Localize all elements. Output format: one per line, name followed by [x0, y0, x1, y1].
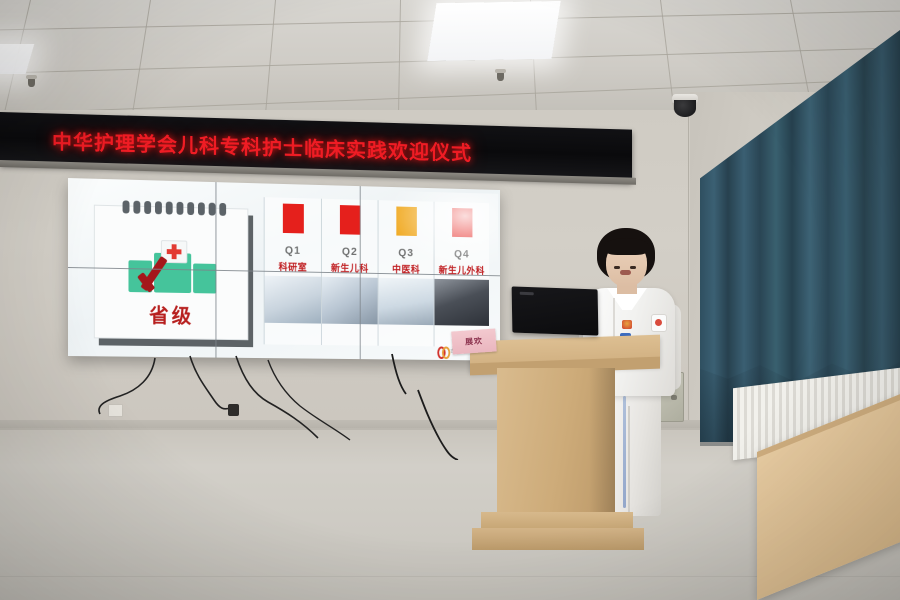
slide-notepad-title: 省级: [95, 298, 247, 329]
wall-outlet[interactable]: [108, 404, 123, 417]
conference-room-photo: 中华护理学会儿科专科护士临床实践欢迎仪式 省级: [0, 0, 900, 600]
notepad-illustration: 省级: [94, 205, 248, 341]
shoulder-patch-icon: [651, 314, 667, 332]
speaker-fringe: [604, 238, 649, 255]
check-mark-icon: [140, 253, 185, 295]
column-photo-q1: [265, 276, 321, 324]
trouser-stripe: [623, 396, 626, 508]
cable-plug: [228, 404, 239, 416]
sprinkler-head-left: [28, 78, 35, 87]
column-number-q1: Q1: [265, 244, 321, 257]
column-number-q2: Q2: [322, 246, 378, 259]
sprinkler-head-right: [497, 72, 504, 81]
podium-base-lower: [472, 528, 644, 550]
column-photo-q3: [379, 278, 434, 325]
notepad-rings-icon: [123, 200, 227, 215]
speaker-mouth: [620, 270, 631, 275]
ceiling-light-main: [427, 1, 561, 61]
column-photo-q2: [322, 277, 378, 325]
column-photo-q4: [435, 279, 489, 326]
lapel-pin-icon: [622, 320, 632, 329]
security-camera-icon: [672, 94, 698, 114]
ceiling-light-left: [0, 44, 34, 74]
ribbon-icon: [339, 205, 360, 235]
screen-glare: [387, 191, 498, 271]
ribbon-icon: [282, 204, 303, 234]
podium-name-sign: 展欢: [451, 328, 496, 354]
laptop[interactable]: [512, 286, 599, 335]
podium-name-sign-text: 展欢: [465, 335, 484, 347]
podium-body: [497, 368, 615, 518]
led-banner-text: 中华护理学会儿科专科护士临床实践欢迎仪式: [52, 125, 472, 166]
